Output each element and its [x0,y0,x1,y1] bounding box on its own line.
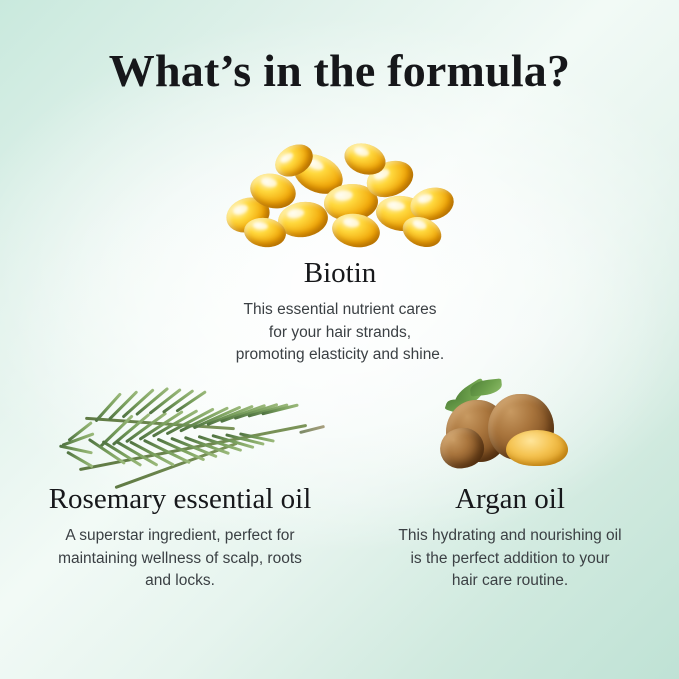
golden-softgel-capsules-photo [220,140,460,250]
ingredient-title-rosemary: Rosemary essential oil [10,484,350,516]
ingredient-argan: Argan oil This hydrating and nourishing … [350,378,670,593]
ingredient-title-biotin: Biotin [170,258,510,290]
ingredient-description-rosemary: A superstar ingredient, perfect for main… [10,525,350,593]
ingredient-description-biotin: This essential nutrient cares for your h… [170,299,510,367]
ingredient-biotin: Biotin This essential nutrient cares for… [170,140,510,367]
ingredient-title-argan: Argan oil [350,484,670,516]
ingredient-rosemary: Rosemary essential oil A superstar ingre… [10,378,350,593]
rosemary-sprig-photo [15,378,345,478]
ingredient-description-argan: This hydrating and nourishing oil is the… [350,525,670,593]
product-ingredients-poster: What’s in the formula? Biotin This essen… [0,0,679,679]
page-title: What’s in the formula? [0,44,679,97]
argan-nuts-and-kernel-photo [410,378,610,478]
